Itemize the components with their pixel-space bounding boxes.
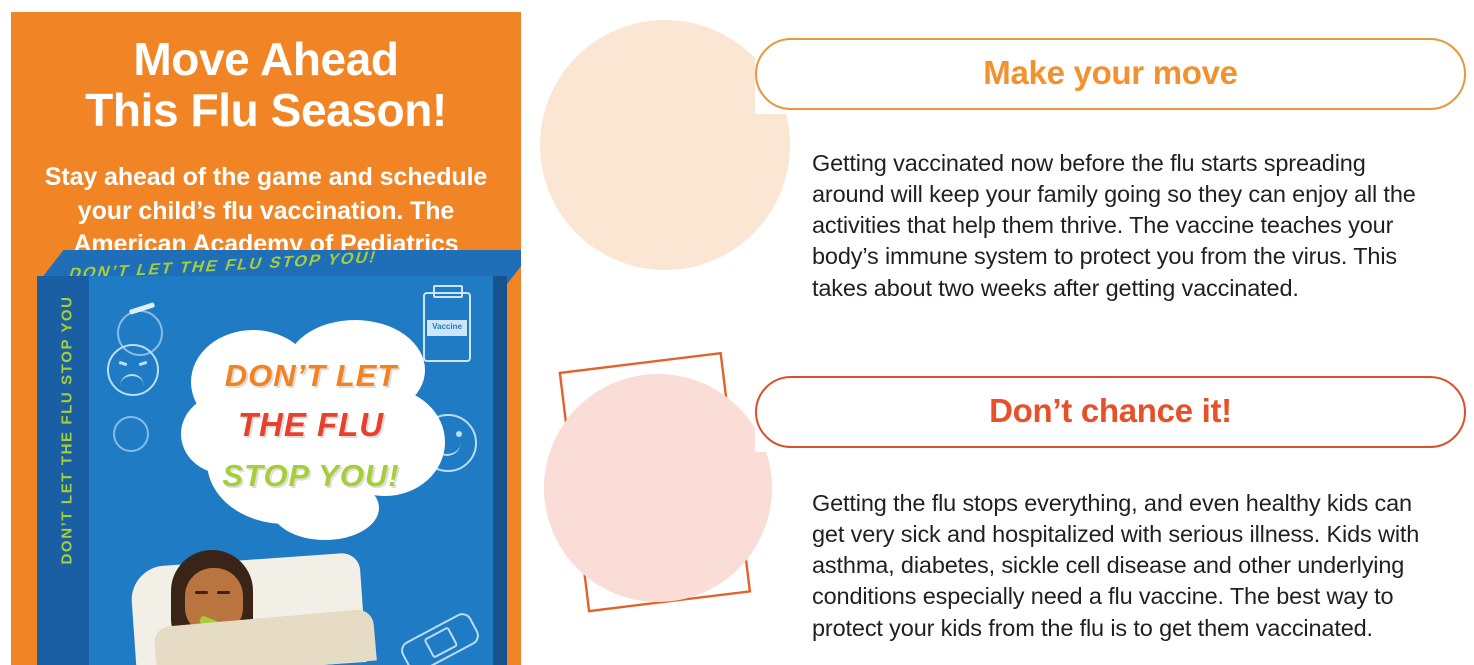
chance-icon-circle-background	[544, 374, 772, 602]
page-title: Move Ahead This Flu Season!	[11, 12, 521, 135]
flu-season-infographic: Move Ahead This Flu Season! Stay ahead o…	[0, 0, 1474, 665]
section-body-text: Getting vaccinated now before the flu st…	[812, 148, 1428, 304]
game-box-front-face: Vaccine	[89, 276, 493, 665]
section-header-pill-dont-chance-it: Don’t chance it!	[755, 376, 1466, 448]
game-box-side-panel: DON’T LET THE FLU STOP YOU	[37, 276, 89, 665]
cloud-text-line-1: DON’T LET	[175, 358, 447, 394]
game-box: DON’T LET THE FLU STOP YOU! DON’T LET TH…	[37, 250, 507, 665]
game-box-right-edge	[493, 276, 507, 665]
sick-face-icon	[107, 344, 159, 396]
cloud-text-block: DON’T LET THE FLU STOP YOU!	[175, 312, 447, 542]
headline-line-1: Move Ahead	[133, 33, 398, 85]
cloud-text-line-2: THE FLU	[175, 406, 447, 444]
game-box-illustration: DON’T LET THE FLU STOP YOU! DON’T LET TH…	[11, 228, 521, 665]
cloud-text-line-3: STOP YOU!	[175, 458, 447, 494]
section-header-pill-make-your-move: Make your move	[755, 38, 1466, 110]
section-title: Don’t chance it!	[989, 394, 1232, 430]
pawn-icon-circle-background	[540, 20, 790, 270]
bandage-icon	[398, 610, 483, 665]
game-box-side-text: DON’T LET THE FLU STOP YOU	[59, 305, 76, 565]
left-orange-panel: Move Ahead This Flu Season! Stay ahead o…	[11, 12, 521, 665]
headline-line-2: This Flu Season!	[25, 85, 507, 136]
section-title: Make your move	[983, 56, 1237, 92]
sick-child-illustration	[133, 542, 363, 665]
section-make-your-move: Make your move Getting vaccinated now be…	[540, 16, 1474, 336]
section-dont-chance-it: Chance Don’t chance it! Getting the flu …	[540, 348, 1474, 665]
section-body-text: Getting the flu stops everything, and ev…	[812, 488, 1438, 644]
virus-icon	[113, 416, 149, 452]
